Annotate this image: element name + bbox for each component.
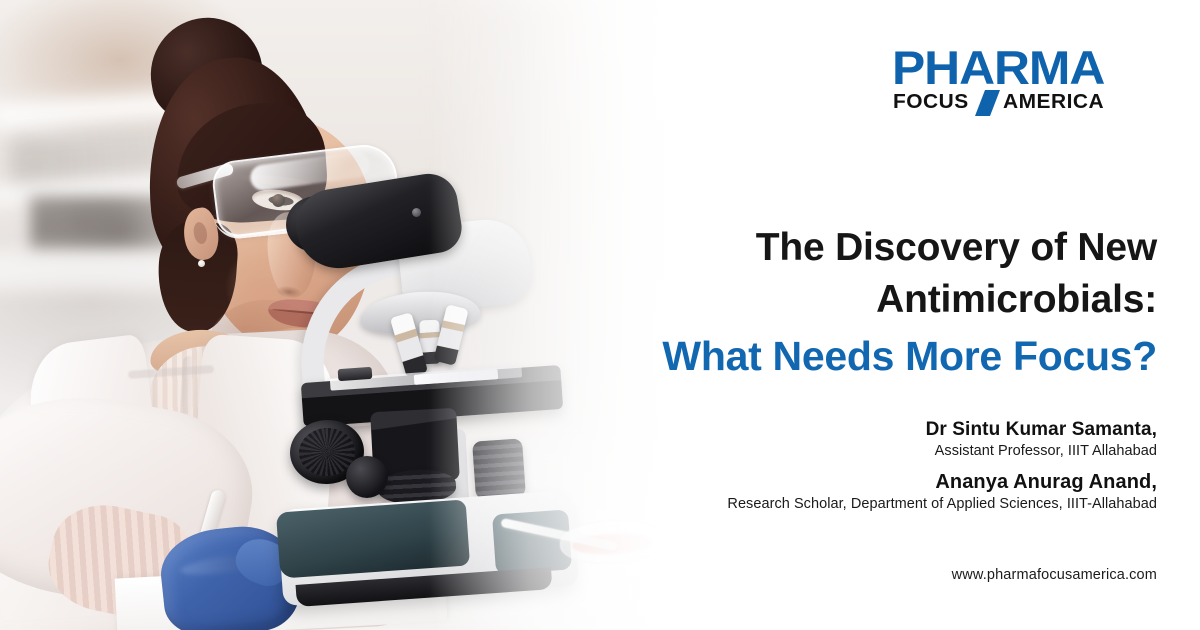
author-name-2: Ananya Anurag Anand, bbox=[397, 470, 1157, 496]
article-banner: PHARMA FOCUS AMERICA The Discovery of Ne… bbox=[0, 0, 1200, 630]
logo-wordmark-america: AMERICA bbox=[1003, 92, 1104, 113]
author-name-1: Dr Sintu Kumar Samanta, bbox=[397, 418, 1157, 442]
title-line-highlight: What Needs More Focus? bbox=[477, 329, 1157, 384]
logo-wordmark-pharma: PHARMA bbox=[892, 44, 1104, 91]
title-line-1: The Discovery of New bbox=[477, 222, 1157, 274]
article-title-block: The Discovery of New Antimicrobials: Wha… bbox=[477, 222, 1157, 383]
title-line-2: Antimicrobials: bbox=[477, 274, 1157, 326]
author-block: Dr Sintu Kumar Samanta, Assistant Profes… bbox=[397, 418, 1157, 515]
author-role-1: Assistant Professor, IIIT Allahabad bbox=[397, 442, 1157, 462]
author-role-2: Research Scholar, Department of Applied … bbox=[397, 495, 1157, 515]
website-url[interactable]: www.pharmafocusamerica.com bbox=[952, 567, 1157, 583]
logo-wordmark-focus: FOCUS bbox=[893, 92, 969, 113]
brand-logo[interactable]: PHARMA FOCUS AMERICA bbox=[892, 44, 1142, 118]
